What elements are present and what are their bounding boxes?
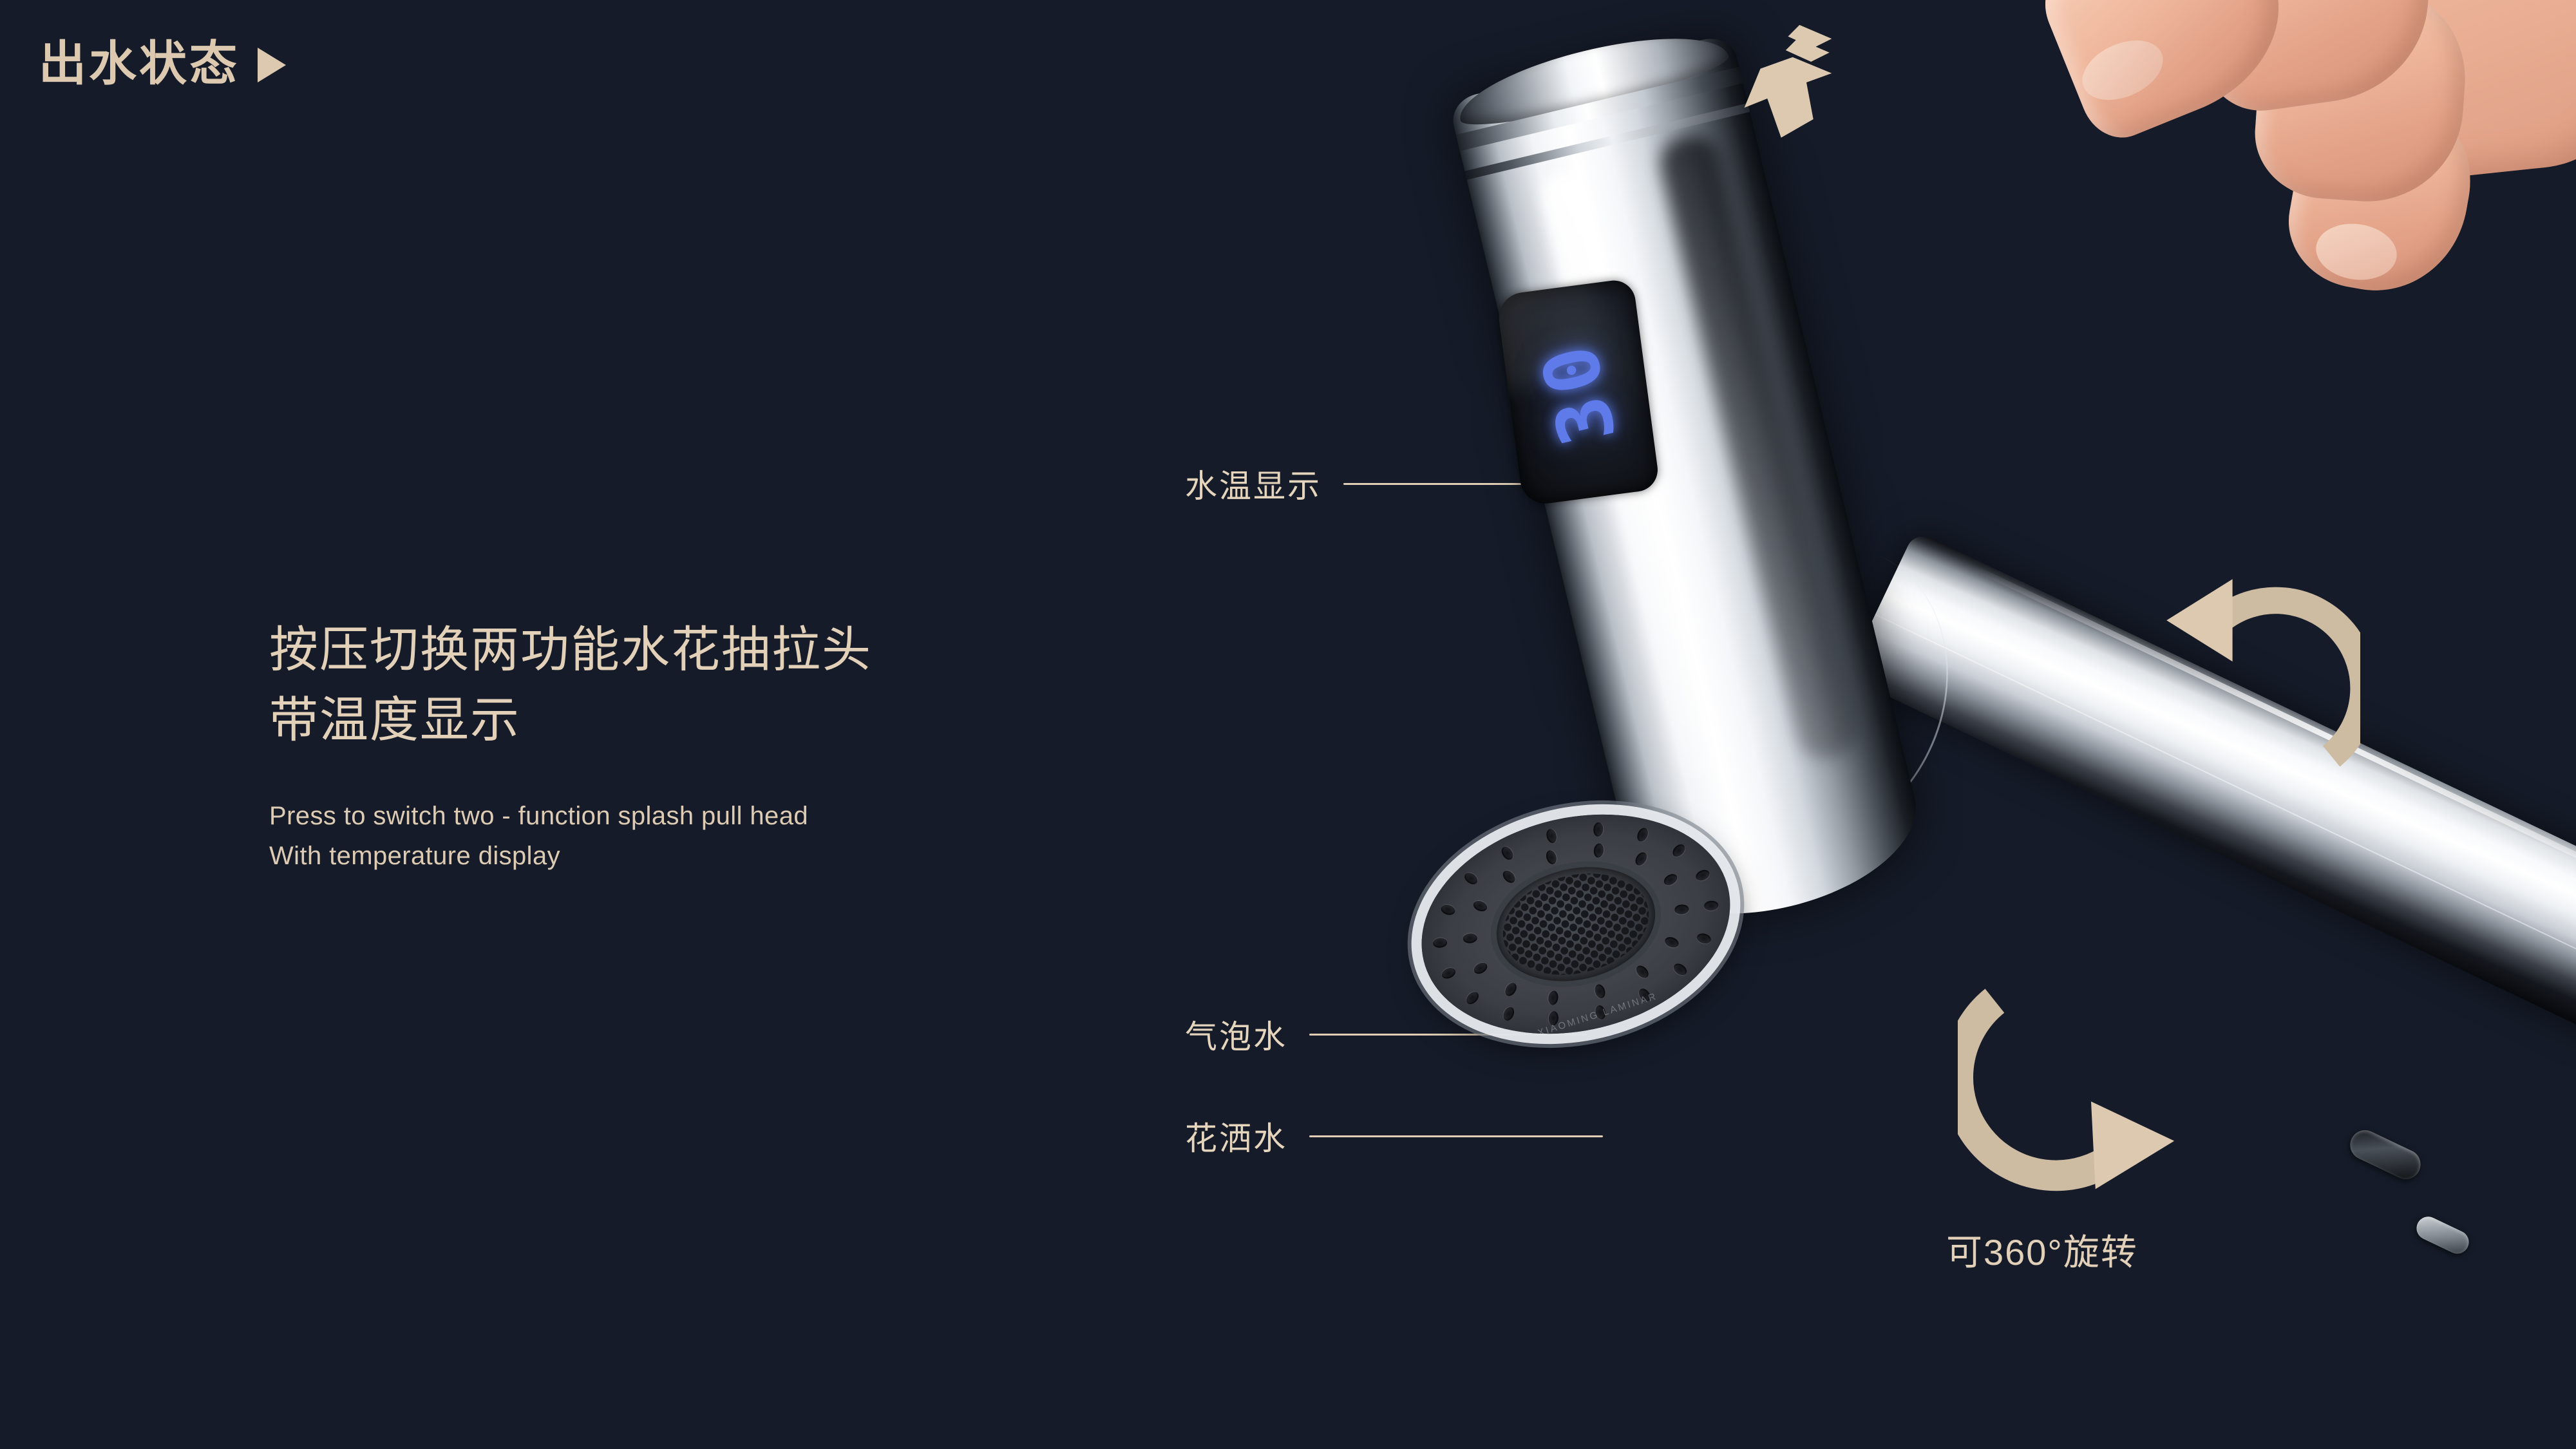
shower-hole	[1633, 850, 1649, 867]
shower-hole	[1671, 842, 1687, 858]
shower-hole	[1472, 899, 1489, 913]
shower-hole	[1545, 849, 1558, 866]
shower-hole	[1463, 933, 1477, 944]
play-triangle-icon	[258, 48, 286, 82]
rotate-counterclockwise-arrow-icon	[2154, 567, 2360, 773]
pull-down-head: 30	[1448, 33, 1932, 940]
spout-button-upper	[2345, 1125, 2426, 1184]
shower-hole	[1663, 936, 1680, 950]
led-temperature-value: 30	[1522, 331, 1633, 453]
shower-hole	[1593, 983, 1607, 1000]
shower-hole	[1463, 871, 1480, 887]
subhead-en-line2: With temperature display	[269, 836, 872, 876]
spout-button-lower	[2412, 1213, 2472, 1258]
shower-hole	[1696, 932, 1712, 945]
callout-label: 气泡水	[1185, 1011, 1287, 1057]
shower-hole	[1704, 900, 1719, 911]
shower-hole	[1472, 961, 1490, 976]
shower-hole	[1662, 872, 1680, 887]
shower-hole	[1674, 904, 1689, 915]
page-header: 出水状态	[39, 40, 286, 88]
shower-hole	[1441, 966, 1457, 981]
rotate-clockwise-arrow-icon	[1958, 979, 2202, 1198]
shower-hole	[1593, 843, 1604, 858]
faucet-product-image: 30 XIAOMING LAMINAR	[1352, 0, 2576, 1449]
shower-hole	[1502, 981, 1519, 998]
callout-label: 花洒水	[1185, 1113, 1287, 1159]
headline-zh-line1: 按压切换两功能水花抽拉头	[269, 615, 872, 685]
shower-hole	[1502, 1005, 1517, 1022]
shower-hole	[1672, 961, 1689, 978]
feature-copy-block: 按压切换两功能水花抽拉头 带温度显示 Press to switch two -…	[269, 615, 872, 876]
shower-hole	[1634, 963, 1651, 980]
shower-hole	[1593, 822, 1604, 837]
callout-label: 水温显示	[1185, 460, 1321, 507]
shower-hole	[1694, 867, 1711, 882]
led-temperature-panel: 30	[1496, 278, 1660, 507]
shower-hole	[1501, 868, 1518, 885]
shower-hole	[1545, 828, 1558, 844]
press-down-arrow-icon	[1732, 18, 1848, 147]
hand-pressing-icon	[2003, 0, 2576, 361]
slide-canvas: 出水状态 按压切换两功能水花抽拉头 带温度显示 Press to switch …	[0, 0, 2576, 1449]
shower-hole	[1433, 937, 1448, 948]
shower-hole	[1440, 904, 1456, 916]
shower-hole	[1635, 826, 1650, 843]
headline-zh-line2: 带温度显示	[269, 685, 872, 755]
shower-hole	[1464, 989, 1481, 1006]
page-title: 出水状态	[39, 40, 240, 88]
shower-hole	[1499, 844, 1515, 862]
shower-hole	[1548, 990, 1559, 1005]
subhead-en-line1: Press to switch two - function splash pu…	[269, 796, 872, 836]
